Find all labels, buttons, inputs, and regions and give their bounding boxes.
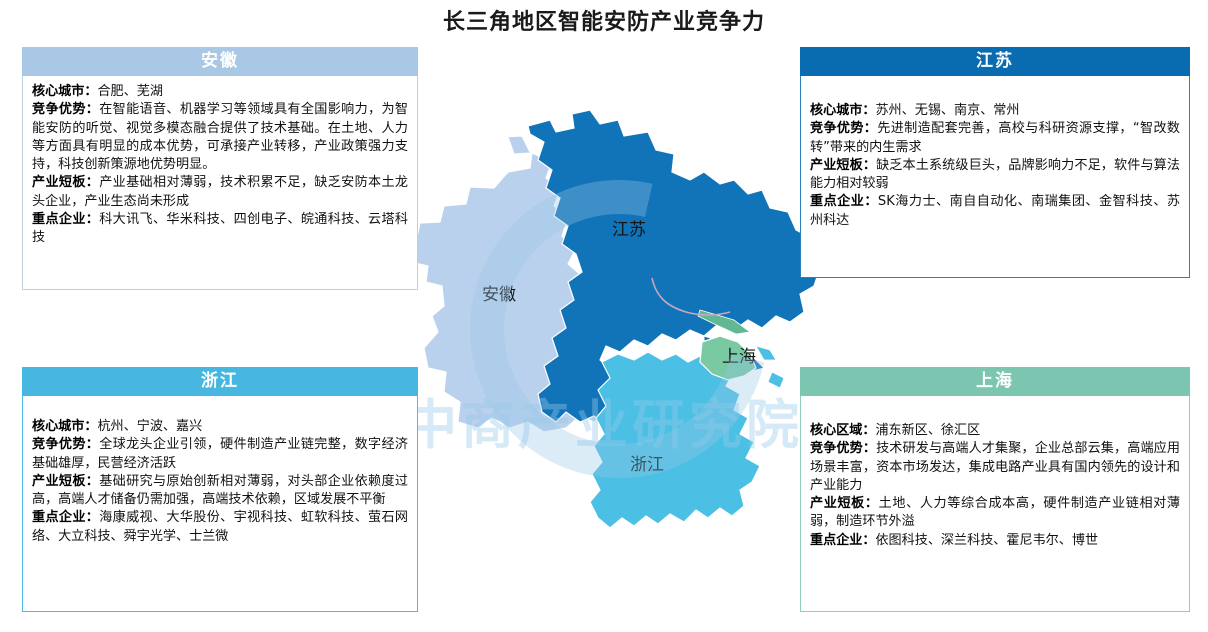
panel-jiangsu: 江苏 核心城市：苏州、无锡、南京、常州 竞争优势：先进制造配套完善，高校与科研资… [800,47,1190,278]
shanghai-weakness-label: 产业短板： [810,496,879,511]
jiangsu-companies-label: 重点企业： [810,194,878,209]
jiangsu-advantage: 竞争优势：先进制造配套完善，高校与科研资源支撑，“智改数转”带来的内生需求 [810,120,1180,157]
panel-jiangsu-title: 江苏 [800,47,1190,76]
shanghai-companies-label: 重点企业： [810,533,875,548]
zhejiang-advantage-label: 竞争优势： [32,437,99,452]
anhui-weakness-label: 产业短板： [32,175,99,190]
panel-shanghai: 上海 核心区域：浦东新区、徐汇区 竞争优势：技术研发与高端人才集聚，企业总部云集… [800,367,1190,612]
jiangsu-core-cities-value: 苏州、无锡、南京、常州 [875,103,1019,118]
panel-shanghai-body: 核心区域：浦东新区、徐汇区 竞争优势：技术研发与高端人才集聚，企业总部云集，高端… [800,396,1190,612]
panel-anhui: 安徽 核心城市：合肥、芜湖 竞争优势：在智能语音、机器学习等领域具有全国影响力，… [22,47,418,290]
zhejiang-core-cities-label: 核心城市： [32,419,97,434]
shanghai-companies: 重点企业：依图科技、深兰科技、霍尼韦尔、博世 [810,532,1180,550]
anhui-core-cities: 核心城市：合肥、芜湖 [32,83,408,101]
map-label-shanghai: 上海 [722,342,756,367]
panel-zhejiang-body: 核心城市：杭州、宁波、嘉兴 竞争优势：全球龙头企业引领，硬件制造产业链完整，数字… [22,396,418,612]
jiangsu-core-cities: 核心城市：苏州、无锡、南京、常州 [810,102,1180,120]
panel-anhui-body: 核心城市：合肥、芜湖 竞争优势：在智能语音、机器学习等领域具有全国影响力，为智能… [22,76,418,290]
panel-anhui-title: 安徽 [22,47,418,76]
page-title: 长三角地区智能安防产业竞争力 [0,4,1208,36]
shanghai-core-cities-value: 浦东新区、徐汇区 [875,423,980,438]
shanghai-core-cities-label: 核心区域： [810,423,875,438]
jiangsu-core-cities-label: 核心城市： [810,103,875,118]
zhejiang-weakness: 产业短板：基础研究与原始创新相对薄弱，对头部企业依赖度过高，高端人才储备仍需加强… [32,473,408,510]
anhui-companies-label: 重点企业： [32,212,99,227]
jiangsu-weakness: 产业短板：缺乏本土系统级巨头，品牌影响力不足，软件与算法能力相对较弱 [810,157,1180,194]
jiangsu-companies: 重点企业：SK海力士、南自自动化、南瑞集团、金智科技、苏州科达 [810,193,1180,230]
zhejiang-core-cities-value: 杭州、宁波、嘉兴 [97,419,202,434]
anhui-weakness: 产业短板：产业基础相对薄弱，技术积累不足，缺乏安防本土龙头企业，产业生态尚未形成 [32,174,408,211]
zhejiang-companies-label: 重点企业： [32,510,99,525]
zhejiang-weakness-label: 产业短板： [32,474,99,489]
jiangsu-weakness-label: 产业短板： [810,158,876,173]
panel-jiangsu-body: 核心城市：苏州、无锡、南京、常州 竞争优势：先进制造配套完善，高校与科研资源支撑… [800,76,1190,278]
map-label-jiangsu: 江苏 [612,215,646,240]
yangtze-delta-map: 江苏 安徽 浙江 上海 [404,110,824,620]
panel-shanghai-title: 上海 [800,367,1190,396]
anhui-companies: 重点企业：科大讯飞、华米科技、四创电子、皖通科技、云塔科技 [32,211,408,248]
panel-zhejiang: 浙江 核心城市：杭州、宁波、嘉兴 竞争优势：全球龙头企业引领，硬件制造产业链完整… [22,367,418,612]
panel-zhejiang-title: 浙江 [22,367,418,396]
map-label-zhejiang: 浙江 [630,450,664,475]
shanghai-advantage-label: 竞争优势： [810,441,876,456]
shanghai-weakness: 产业短板：土地、人力等综合成本高，硬件制造产业链相对薄弱，制造环节外溢 [810,495,1180,532]
jiangsu-advantage-label: 竞争优势： [810,121,877,136]
shanghai-core-cities: 核心区域：浦东新区、徐汇区 [810,422,1180,440]
zhejiang-companies: 重点企业：海康威视、大华股份、宇视科技、虹软科技、萤石网络、大立科技、舜宇光学、… [32,509,408,546]
anhui-advantage: 竞争优势：在智能语音、机器学习等领域具有全国影响力，为智能安防的听觉、视觉多模态… [32,101,408,174]
anhui-core-cities-label: 核心城市： [32,84,97,99]
map-label-anhui: 安徽 [482,280,516,305]
shanghai-companies-value: 依图科技、深兰科技、霍尼韦尔、博世 [875,533,1098,548]
zhejiang-core-cities: 核心城市：杭州、宁波、嘉兴 [32,418,408,436]
anhui-advantage-label: 竞争优势： [32,102,99,117]
shanghai-advantage: 竞争优势：技术研发与高端人才集聚，企业总部云集，高端应用场景丰富，资本市场发达，… [810,440,1180,495]
anhui-core-cities-value: 合肥、芜湖 [97,84,162,99]
zhejiang-advantage: 竞争优势：全球龙头企业引领，硬件制造产业链完整，数字经济基础雄厚，民营经济活跃 [32,436,408,473]
